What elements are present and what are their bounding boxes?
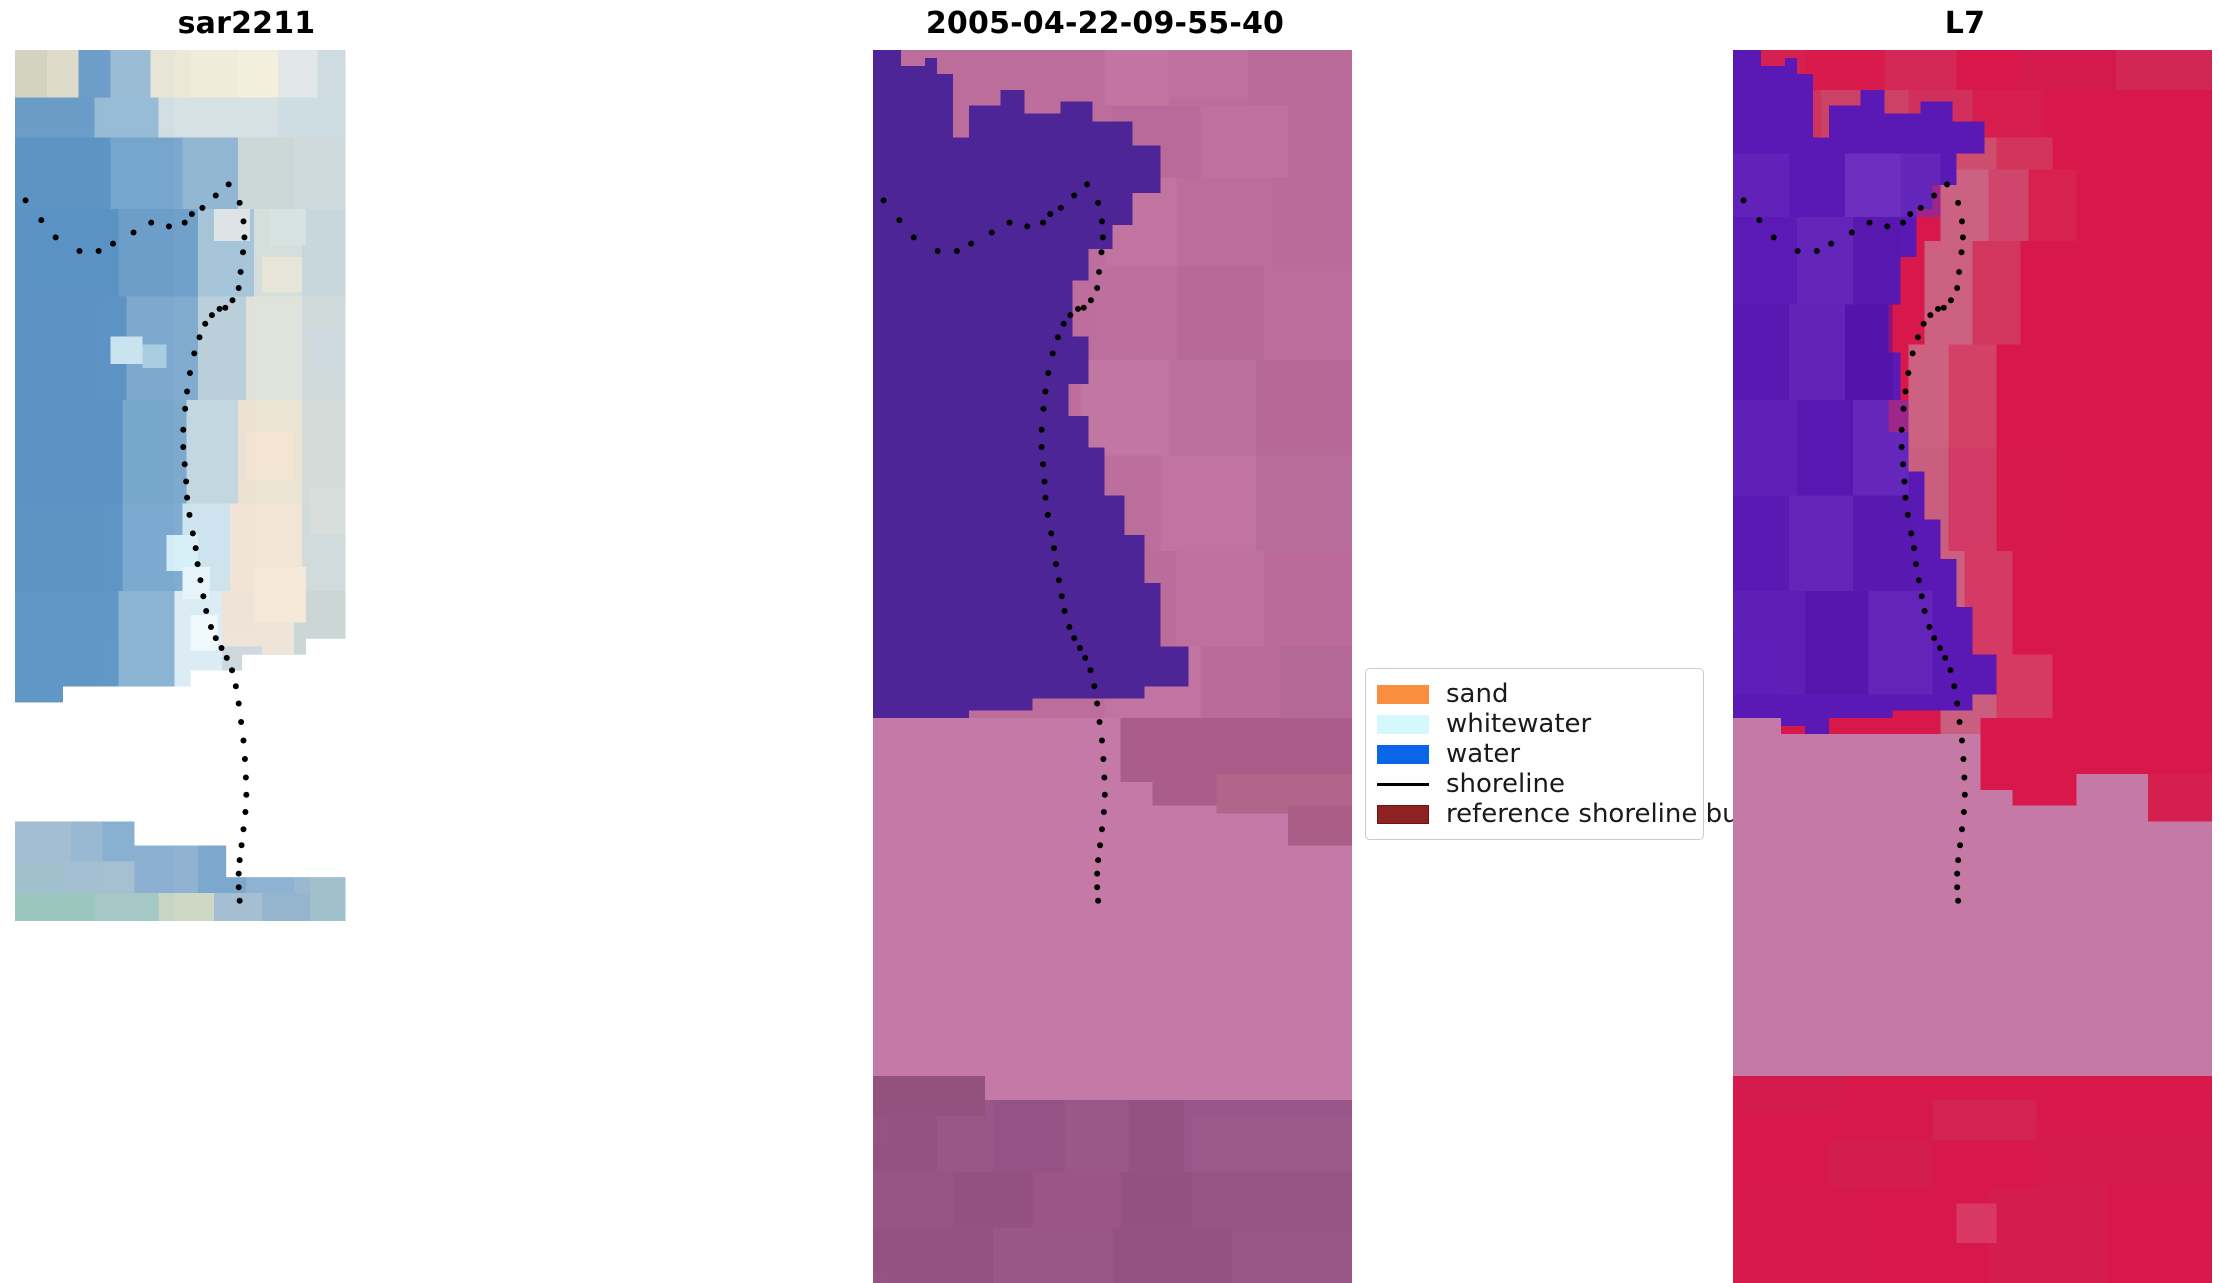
panel-title-l7: L7: [1718, 6, 2212, 41]
panel-image-sar2211[interactable]: [15, 50, 493, 1283]
legend-item-reference-buffer: reference shoreline buffer: [1377, 799, 1691, 829]
whitewater-swatch: [1377, 715, 1429, 734]
sand-swatch: [1377, 685, 1429, 704]
panel-title-classified: 2005-04-22-09-55-40: [858, 6, 1352, 41]
panel-title-sar2211: sar2211: [0, 6, 493, 41]
legend-item-whitewater: whitewater: [1377, 709, 1691, 739]
legend-label-whitewater: whitewater: [1446, 711, 1591, 737]
l7-raster: [1733, 50, 2212, 1283]
figure-canvas: sar2211: [0, 0, 2219, 1283]
sar2211-raster: [15, 50, 493, 1283]
legend-label-water: water: [1446, 741, 1520, 767]
reference-shoreline-buffer-swatch: [1377, 805, 1429, 824]
legend-item-sand: sand: [1377, 679, 1691, 709]
classified-raster: [873, 50, 1352, 1283]
panel-image-l7[interactable]: [1733, 50, 2212, 1283]
legend-item-shoreline: shoreline: [1377, 769, 1691, 799]
water-swatch: [1377, 745, 1429, 764]
shoreline-line-swatch: [1377, 775, 1429, 794]
legend: sand whitewater water shoreline referenc…: [1365, 668, 1704, 840]
panel-image-classified[interactable]: [873, 50, 1352, 1283]
legend-item-water: water: [1377, 739, 1691, 769]
legend-label-shoreline: shoreline: [1446, 771, 1565, 797]
legend-label-sand: sand: [1446, 681, 1508, 707]
